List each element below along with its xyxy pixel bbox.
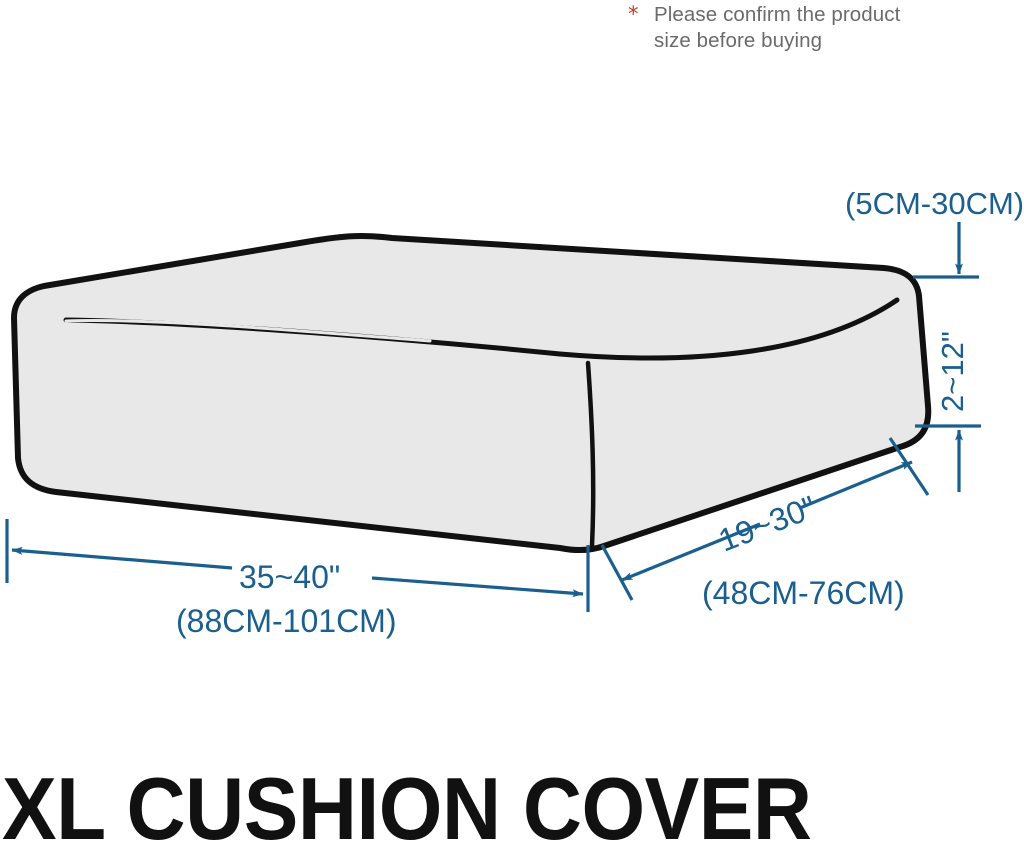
- depth-near-tick: [602, 545, 632, 600]
- width-cm-label: (88CM-101CM): [176, 603, 396, 639]
- cushion-illustration: (5CM-30CM) 2~12" 35~40" (88CM-101CM): [0, 0, 1024, 770]
- width-left-arrow: [12, 550, 232, 568]
- height-cm-label: (5CM-30CM): [845, 186, 1024, 221]
- width-inch-label: 35~40": [239, 559, 340, 595]
- product-size-diagram: * Please confirm the product size before…: [0, 0, 1024, 855]
- page-title: XL CUSHION COVER: [2, 762, 812, 855]
- height-inch-label: 2~12": [935, 331, 970, 412]
- width-right-arrow: [372, 578, 583, 594]
- depth-cm-label: (48CM-76CM): [702, 575, 905, 611]
- product-title-bar: XL CUSHION COVER: [0, 762, 1024, 855]
